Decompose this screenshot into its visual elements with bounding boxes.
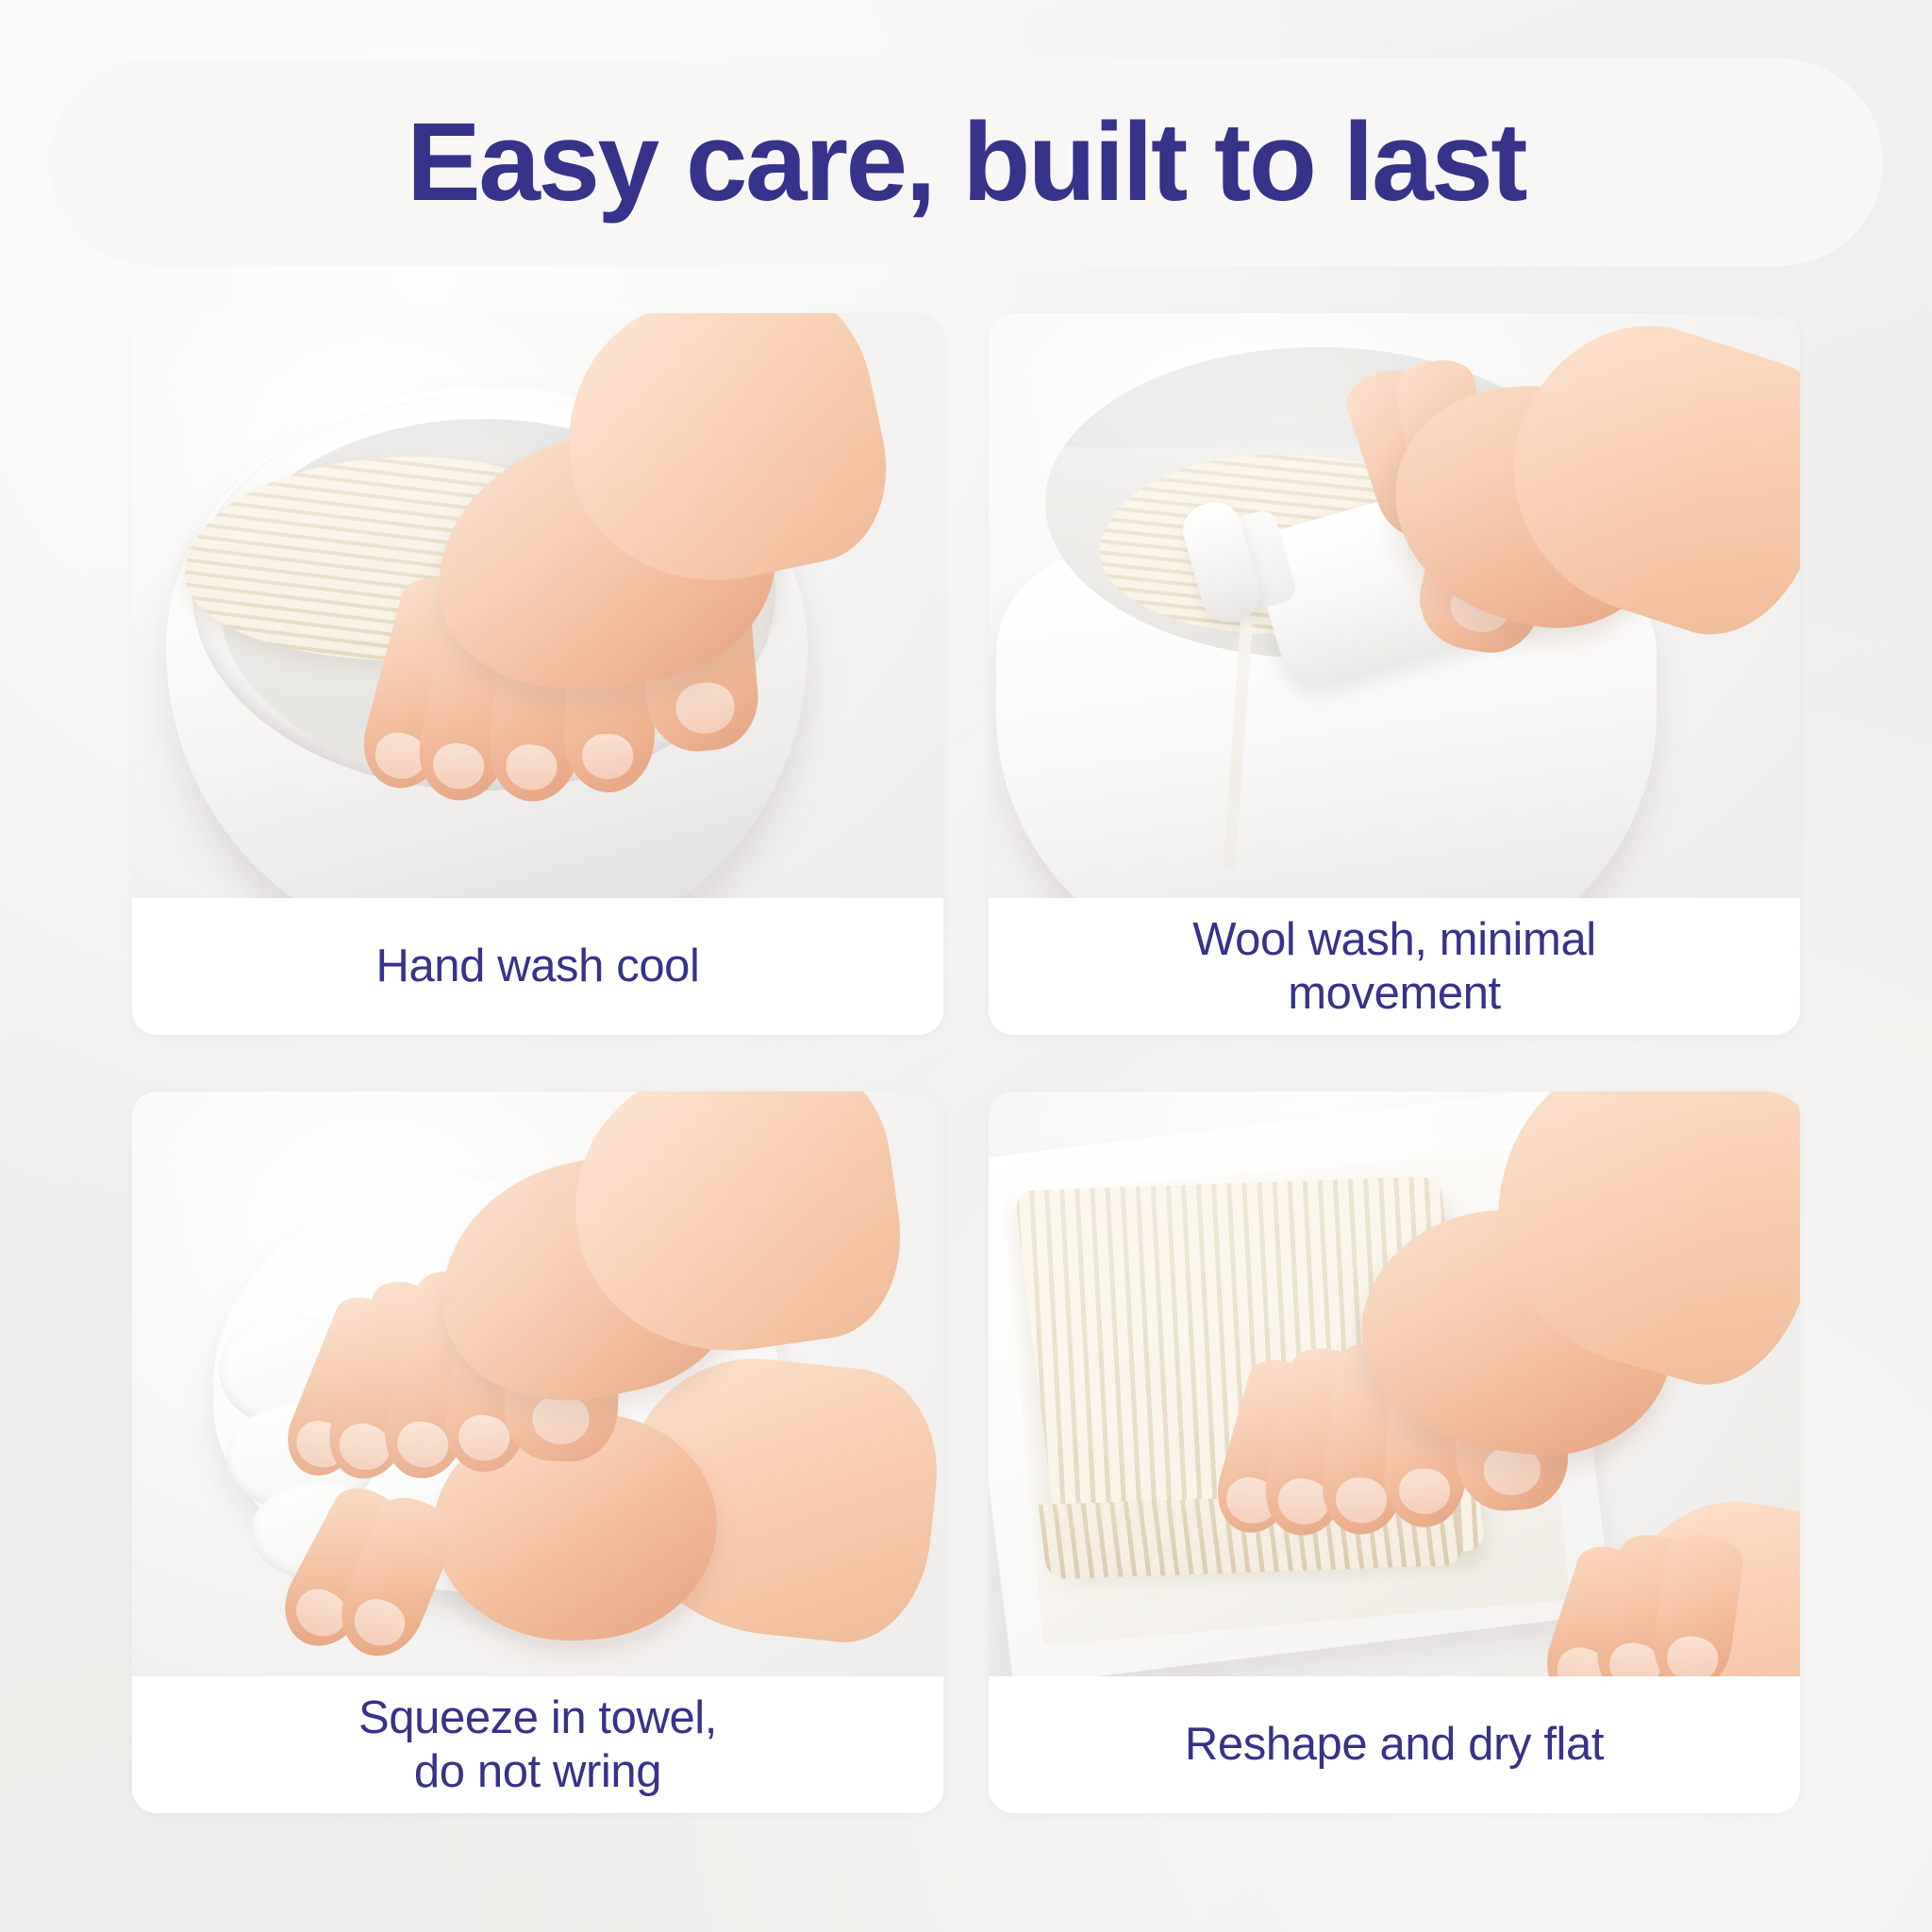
care-step-card-reshape-dry-flat[interactable]: Reshape and dry flat: [989, 1091, 1800, 1813]
care-step-card-hand-wash-cool[interactable]: Hand wash cool: [132, 313, 943, 1035]
page-title: Easy care, built to last: [407, 107, 1525, 218]
care-step-caption: Reshape and dry flat: [1185, 1718, 1604, 1772]
care-step-card-wool-wash[interactable]: Wool wash, minimal movement: [989, 313, 1800, 1035]
care-step-caption-container: Reshape and dry flat: [989, 1676, 1800, 1813]
care-step-caption: Squeeze in towel, do not wring: [358, 1691, 717, 1799]
care-step-card-squeeze-in-towel[interactable]: Squeeze in towel, do not wring: [132, 1091, 943, 1813]
care-step-photo-hand-wash-cool: [132, 313, 943, 898]
care-step-caption: Wool wash, minimal movement: [1192, 913, 1596, 1021]
care-step-photo-wool-wash: [989, 313, 1800, 898]
care-step-caption-container: Wool wash, minimal movement: [989, 898, 1800, 1035]
care-step-caption-container: Hand wash cool: [132, 898, 943, 1035]
care-step-caption: Hand wash cool: [375, 940, 699, 993]
care-steps-grid: Hand wash cool: [132, 313, 1800, 1813]
header-title-pill: Easy care, built to last: [49, 58, 1883, 266]
care-step-photo-reshape-dry-flat: [989, 1091, 1800, 1676]
care-step-caption-container: Squeeze in towel, do not wring: [132, 1676, 943, 1813]
care-step-photo-squeeze-in-towel: [132, 1091, 943, 1676]
